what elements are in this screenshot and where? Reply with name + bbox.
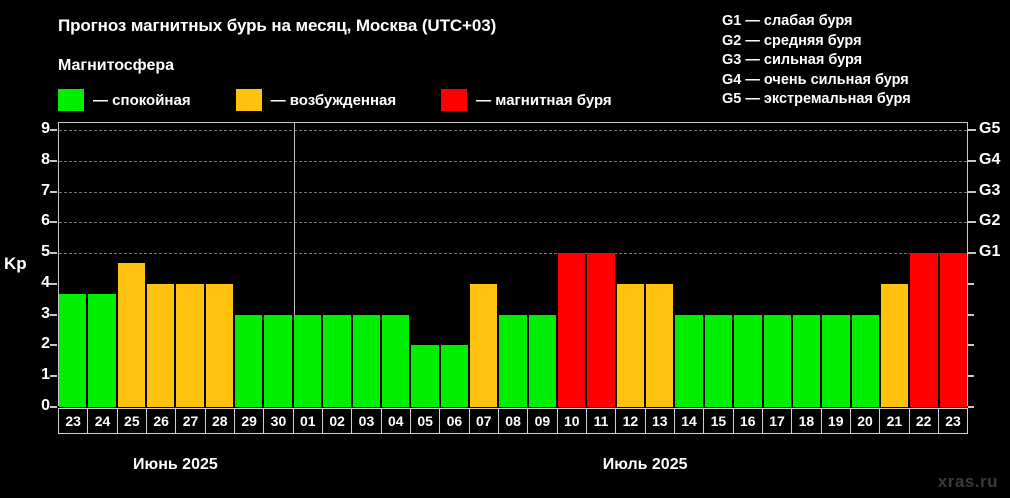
g-axis-minor-tick-4 xyxy=(968,283,974,285)
bar-day-21[interactable] xyxy=(881,284,908,407)
page-title: Прогноз магнитных бурь на месяц, Москва … xyxy=(58,16,496,36)
magnetosphere-legend: — спокойная— возбужденная— магнитная бур… xyxy=(58,89,612,111)
day-cell-7[interactable]: 30 xyxy=(263,408,292,434)
day-cell-6[interactable]: 29 xyxy=(234,408,263,434)
day-cell-22[interactable]: 15 xyxy=(703,408,732,434)
day-cell-24[interactable]: 17 xyxy=(762,408,791,434)
day-cell-11[interactable]: 04 xyxy=(381,408,410,434)
g-tick-mark-g2 xyxy=(968,221,976,223)
g-tick-mark-g3 xyxy=(968,191,976,193)
magnetosphere-label: Магнитосфера xyxy=(58,57,174,75)
green-square-swatch xyxy=(58,89,84,111)
day-cell-12[interactable]: 05 xyxy=(410,408,439,434)
day-cell-1[interactable]: 24 xyxy=(87,408,116,434)
g-axis-minor-tick-2 xyxy=(968,344,974,346)
y-tick-mark-3 xyxy=(50,314,57,316)
bar-day-16[interactable] xyxy=(734,315,761,407)
day-cell-29[interactable]: 22 xyxy=(909,408,938,434)
bar-day-27[interactable] xyxy=(176,284,203,407)
day-cell-14[interactable]: 07 xyxy=(469,408,498,434)
bar-day-02[interactable] xyxy=(323,315,350,407)
month-caption-1: Июнь 2025 xyxy=(133,456,218,474)
bar-day-07[interactable] xyxy=(470,284,497,407)
g-legend-row-2: G2 — средняя буря xyxy=(722,32,911,52)
y-tick-label-1: 1 xyxy=(28,366,50,384)
day-cell-18[interactable]: 11 xyxy=(586,408,615,434)
bar-day-22[interactable] xyxy=(910,253,937,407)
bar-day-28[interactable] xyxy=(206,284,233,407)
bar-day-19[interactable] xyxy=(822,315,849,407)
watermark: xras.ru xyxy=(938,472,998,492)
y-tick-label-7: 7 xyxy=(28,182,50,200)
day-label-strip: 2324252627282930010203040506070809101112… xyxy=(58,408,968,434)
y-tick-mark-0 xyxy=(50,406,57,408)
day-cell-25[interactable]: 18 xyxy=(791,408,820,434)
g-tick-mark-g1 xyxy=(968,252,976,254)
month-caption-2: Июль 2025 xyxy=(603,456,688,474)
day-cell-8[interactable]: 01 xyxy=(293,408,322,434)
y-tick-mark-8 xyxy=(50,160,57,162)
bar-day-09[interactable] xyxy=(529,315,556,407)
bar-day-26[interactable] xyxy=(147,284,174,407)
y-tick-label-0: 0 xyxy=(28,397,50,415)
day-cell-15[interactable]: 08 xyxy=(498,408,527,434)
day-cell-28[interactable]: 21 xyxy=(879,408,908,434)
legend-item-label: — спокойная xyxy=(93,92,191,109)
y-axis-tick-labels: 0123456789 xyxy=(10,0,50,498)
bar-series xyxy=(58,122,968,407)
g-axis-label-g4: G4 xyxy=(979,151,1000,169)
day-cell-16[interactable]: 09 xyxy=(527,408,556,434)
day-cell-17[interactable]: 10 xyxy=(557,408,586,434)
legend-item-label: — возбужденная xyxy=(271,92,397,109)
y-tick-mark-9 xyxy=(50,129,57,131)
day-cell-10[interactable]: 03 xyxy=(351,408,380,434)
bar-day-15[interactable] xyxy=(705,315,732,407)
bar-day-25[interactable] xyxy=(118,263,145,407)
legend-item-1: — спокойная xyxy=(58,89,191,111)
day-cell-4[interactable]: 27 xyxy=(175,408,204,434)
day-cell-20[interactable]: 13 xyxy=(645,408,674,434)
y-tick-mark-6 xyxy=(50,221,57,223)
bar-day-11[interactable] xyxy=(587,253,614,407)
y-tick-mark-1 xyxy=(50,375,57,377)
bar-day-30[interactable] xyxy=(264,315,291,407)
y-tick-label-4: 4 xyxy=(28,274,50,292)
day-cell-23[interactable]: 16 xyxy=(733,408,762,434)
day-cell-0[interactable]: 23 xyxy=(58,408,87,434)
bar-day-20[interactable] xyxy=(852,315,879,407)
y-tick-label-3: 3 xyxy=(28,305,50,323)
day-cell-3[interactable]: 26 xyxy=(146,408,175,434)
bar-day-06[interactable] xyxy=(441,345,468,407)
y-tick-label-9: 9 xyxy=(28,120,50,138)
g-axis-minor-tick-3 xyxy=(968,314,974,316)
bar-day-23[interactable] xyxy=(59,294,86,407)
y-tick-mark-4 xyxy=(50,283,57,285)
g-axis-label-g2: G2 xyxy=(979,212,1000,230)
bar-day-29[interactable] xyxy=(235,315,262,407)
day-cell-21[interactable]: 14 xyxy=(674,408,703,434)
magnetic-storm-forecast-chart: Прогноз магнитных бурь на месяц, Москва … xyxy=(0,0,1010,498)
y-tick-label-6: 6 xyxy=(28,212,50,230)
bar-day-18[interactable] xyxy=(793,315,820,407)
bar-day-24[interactable] xyxy=(88,294,115,407)
g-tick-mark-g4 xyxy=(968,160,976,162)
y-tick-label-8: 8 xyxy=(28,151,50,169)
bar-day-17[interactable] xyxy=(764,315,791,407)
y-tick-mark-2 xyxy=(50,344,57,346)
day-cell-2[interactable]: 25 xyxy=(117,408,146,434)
day-cell-9[interactable]: 02 xyxy=(322,408,351,434)
g-axis-minor-tick-0 xyxy=(968,406,974,408)
g-axis-minor-tick-1 xyxy=(968,375,974,377)
g-axis-label-g1: G1 xyxy=(979,243,1000,261)
y-tick-label-2: 2 xyxy=(28,335,50,353)
g-axis-label-g3: G3 xyxy=(979,182,1000,200)
y-tick-mark-5 xyxy=(50,252,57,254)
g-legend-row-3: G3 — сильная буря xyxy=(722,51,911,71)
day-cell-5[interactable]: 28 xyxy=(205,408,234,434)
g-legend-row-4: G4 — очень сильная буря xyxy=(722,71,911,91)
g-legend-row-5: G5 — экстремальная буря xyxy=(722,90,911,110)
y-tick-mark-7 xyxy=(50,191,57,193)
day-cell-27[interactable]: 20 xyxy=(850,408,879,434)
bar-day-08[interactable] xyxy=(499,315,526,407)
g-tick-mark-g5 xyxy=(968,129,976,131)
bar-day-01[interactable] xyxy=(294,315,321,407)
legend-item-2: — возбужденная xyxy=(236,89,397,111)
g-scale-legend: G1 — слабая буряG2 — средняя буряG3 — си… xyxy=(722,12,911,110)
g-legend-row-1: G1 — слабая буря xyxy=(722,12,911,32)
bar-day-23[interactable] xyxy=(940,253,967,407)
day-cell-19[interactable]: 12 xyxy=(615,408,644,434)
bar-day-14[interactable] xyxy=(675,315,702,407)
bar-day-13[interactable] xyxy=(646,284,673,407)
day-cell-30[interactable]: 23 xyxy=(938,408,968,434)
g-axis-label-g5: G5 xyxy=(979,120,1000,138)
legend-item-3: — магнитная буря xyxy=(441,89,612,111)
bar-day-03[interactable] xyxy=(353,315,380,407)
bar-day-12[interactable] xyxy=(617,284,644,407)
y-tick-label-5: 5 xyxy=(28,243,50,261)
orange-square-swatch xyxy=(236,89,262,111)
day-cell-13[interactable]: 06 xyxy=(439,408,468,434)
bar-day-10[interactable] xyxy=(558,253,585,407)
legend-item-label: — магнитная буря xyxy=(476,92,612,109)
bar-day-05[interactable] xyxy=(411,345,438,407)
day-cell-26[interactable]: 19 xyxy=(821,408,850,434)
bar-day-04[interactable] xyxy=(382,315,409,407)
red-square-swatch xyxy=(441,89,467,111)
